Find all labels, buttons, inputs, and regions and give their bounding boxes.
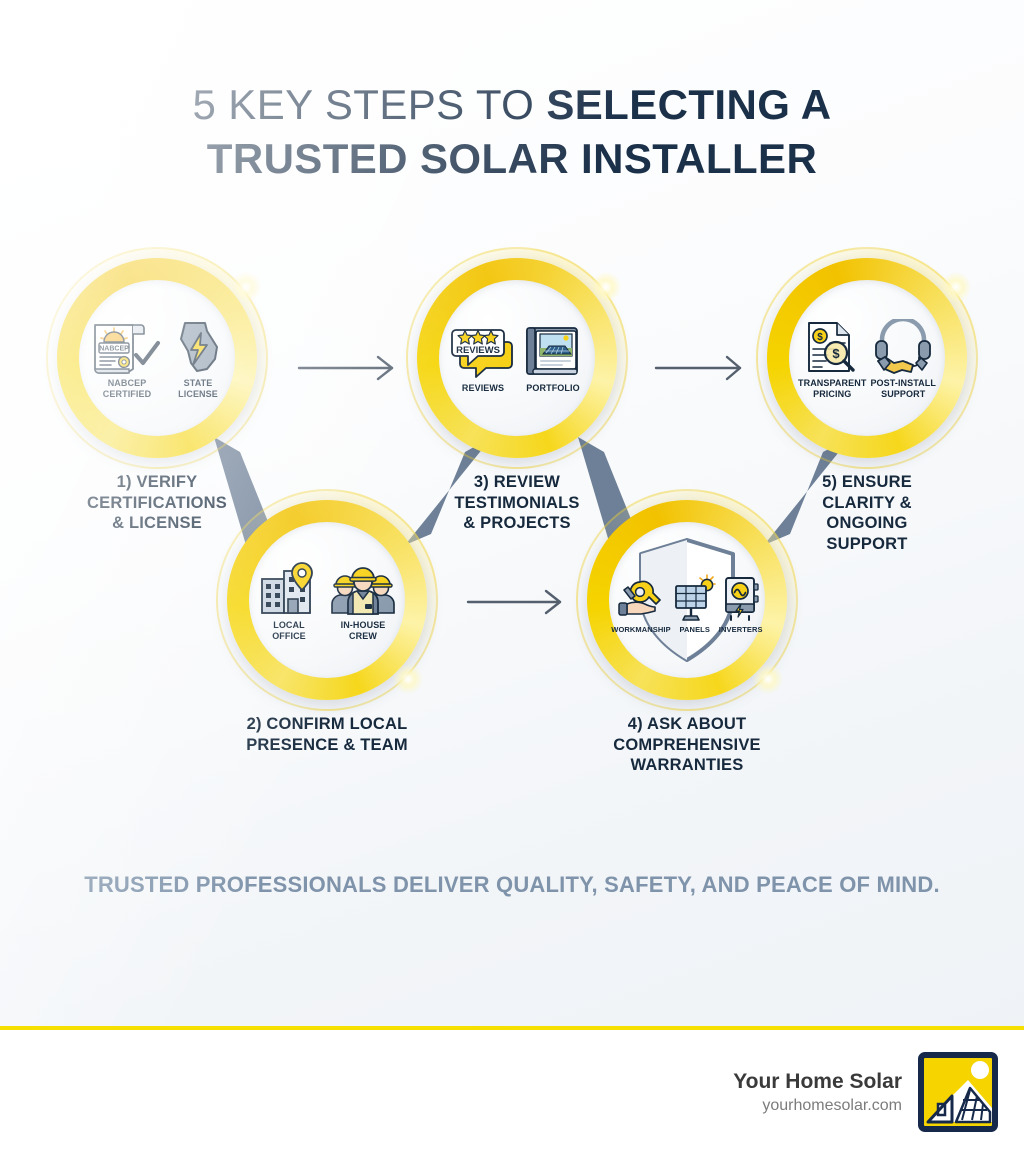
icon-label: TRANSPARENT PRICING [798,378,866,399]
icon-cell-workmanship: WORKMANSHIP [611,564,670,636]
step-1-icon-row: NABCEP [81,317,233,399]
svg-text:$: $ [833,346,841,361]
step-card-5[interactable]: $ $ [767,258,967,554]
icon-cell-panels: PANELS [673,564,717,636]
state-license-icon [171,317,225,375]
step-card-3[interactable]: REVIEWS REVIEWS [417,258,617,534]
workmanship-hand-wrench-icon [618,564,664,622]
icon-cell-in-house-crew: IN-HOUSE CREW [328,559,398,641]
inverter-icon [719,564,763,622]
icon-cell-state-license: STATE LICENSE [171,317,225,399]
your-home-solar-logo[interactable] [918,1052,998,1132]
icon-cell-transparent-pricing: $ $ [798,317,866,399]
icon-cell-nabcep: NABCEP [89,317,165,399]
footer: Your Home Solar yourhomesolar.com [0,1030,1024,1154]
infographic-poster: 5 KEY STEPS TO SELECTING A TRUSTED SOLAR… [0,0,1024,1154]
post-install-support-icon [872,317,934,375]
icon-label: PORTFOLIO [526,383,579,394]
icon-label: LOCAL OFFICE [272,620,306,641]
step-1-inner-disc: NABCEP [79,280,235,436]
step-3-icon-row: REVIEWS REVIEWS [441,322,593,394]
solar-panel-icon [673,564,717,622]
icon-label: INVERTERS [719,625,763,636]
tagline: TRUSTED PROFESSIONALS DELIVER QUALITY, S… [0,872,1024,898]
step-5-caption: 5) ENSURE CLARITY & ONGOING SUPPORT [757,472,977,554]
icon-cell-portfolio: PORTFOLIO [522,322,584,394]
icon-cell-inverters: INVERTERS [719,564,763,636]
brand-text-block: Your Home Solar yourhomesolar.com [733,1069,902,1116]
step-4-caption: 4) ASK ABOUT COMPREHENSIVE WARRANTIES [567,714,807,776]
reviews-speech-bubble-icon: REVIEWS [450,322,516,380]
step-card-1[interactable]: NABCEP [57,258,257,534]
step-5-inner-disc: $ $ [789,280,945,436]
step-1-ring: NABCEP [57,258,257,458]
icon-label: PANELS [679,625,709,636]
icon-cell-post-install-support: POST-INSTALL SUPPORT [870,317,936,399]
step-3-inner-disc: REVIEWS REVIEWS [439,280,595,436]
icon-label: IN-HOUSE CREW [341,620,386,641]
portfolio-book-icon [522,322,584,380]
brand-name: Your Home Solar [733,1069,902,1095]
step-card-2[interactable]: LOCAL OFFICE [227,500,427,755]
nabcep-certificate-icon: NABCEP [89,317,165,375]
icon-label: STATE LICENSE [178,378,218,399]
brand-url[interactable]: yourhomesolar.com [733,1095,902,1116]
step-2-inner-disc: LOCAL OFFICE [249,522,405,678]
in-house-crew-icon [328,559,398,617]
icon-cell-local-office: LOCAL OFFICE [256,559,322,641]
icon-label: NABCEP CERTIFIED [103,378,151,399]
step-3-ring: REVIEWS REVIEWS [417,258,617,458]
step-2-caption: 2) CONFIRM LOCAL PRESENCE & TEAM [207,714,447,755]
icon-label: REVIEWS [462,383,504,394]
icon-label: WORKMANSHIP [611,625,670,636]
step-5-icon-row: $ $ [791,317,943,399]
local-office-building-icon [256,559,322,617]
reviews-badge-text: REVIEWS [456,345,500,356]
step-2-icon-row: LOCAL OFFICE [251,559,403,641]
svg-text:$: $ [817,332,823,343]
step-5-ring: $ $ [767,258,967,458]
transparent-pricing-icon: $ $ [802,317,862,375]
nabcep-badge-text: NABCEP [99,346,129,353]
icon-cell-reviews: REVIEWS REVIEWS [450,322,516,394]
step-4-inner-disc: WORKMANSHIP [609,522,765,678]
step-4-icon-row: WORKMANSHIP [611,564,763,636]
infographic-body: 5 KEY STEPS TO SELECTING A TRUSTED SOLAR… [0,0,1024,1027]
step-2-ring: LOCAL OFFICE [227,500,427,700]
icon-label: POST-INSTALL SUPPORT [870,378,936,399]
